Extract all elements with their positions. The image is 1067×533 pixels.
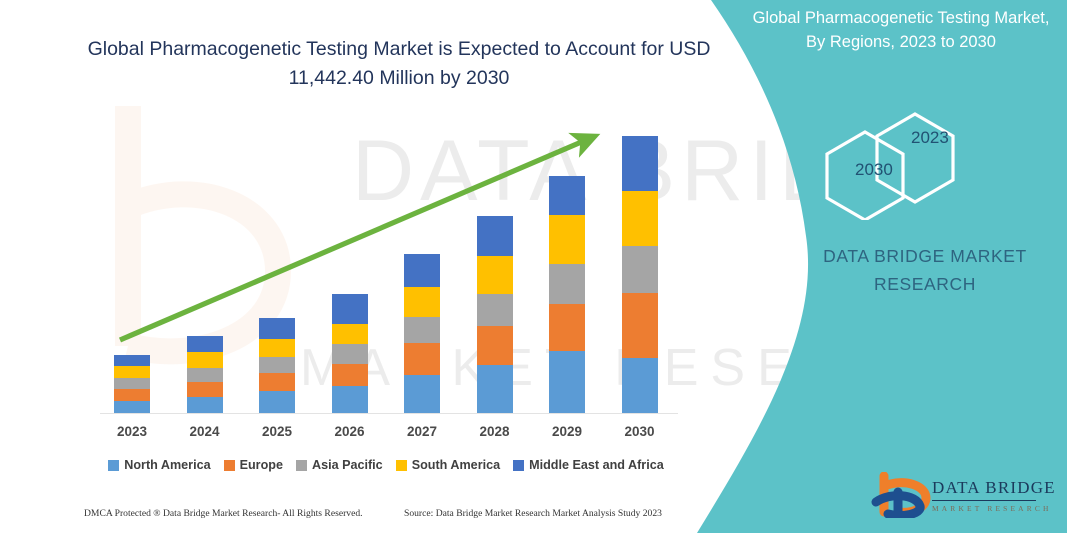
chart-x-axis-labels: 20232024202520262027202820292030 (100, 424, 680, 442)
footer: DMCA Protected ® Data Bridge Market Rese… (84, 508, 694, 524)
x-axis-label-2028: 2028 (465, 424, 525, 439)
x-axis-label-2023: 2023 (102, 424, 162, 439)
panel-title: Global Pharmacogenetic Testing Market, B… (748, 6, 1054, 54)
x-axis-label-2024: 2024 (175, 424, 235, 439)
logo-tagline: MARKET RESEARCH (932, 504, 1056, 513)
legend-item[interactable]: North America (108, 458, 210, 472)
legend-label: North America (124, 458, 210, 472)
legend-label: Asia Pacific (312, 458, 383, 472)
hexagon-pair (820, 110, 1010, 220)
legend-item[interactable]: Asia Pacific (296, 458, 383, 472)
footer-copyright: DMCA Protected ® Data Bridge Market Rese… (84, 508, 363, 519)
x-axis-label-2026: 2026 (320, 424, 380, 439)
x-axis-label-2029: 2029 (537, 424, 597, 439)
footer-source: Source: Data Bridge Market Research Mark… (404, 508, 662, 519)
legend-swatch-icon (224, 460, 235, 471)
legend-swatch-icon (396, 460, 407, 471)
infographic-canvas: DATA BRIDGE MARKET RESEARCH Global Pharm… (0, 0, 1067, 533)
logo-text: DATA BRIDGE MARKET RESEARCH (932, 478, 1056, 513)
legend-item[interactable]: Europe (224, 458, 283, 472)
logo-name: DATA BRIDGE (932, 478, 1056, 498)
panel-brand-line-2: RESEARCH (790, 270, 1060, 298)
hexagon-label-2023: 2023 (911, 128, 949, 148)
hexagon-label-2030: 2030 (855, 160, 893, 180)
x-axis-label-2027: 2027 (392, 424, 452, 439)
legend-swatch-icon (296, 460, 307, 471)
legend-swatch-icon (108, 460, 119, 471)
panel-brand-line-1: DATA BRIDGE MARKET (790, 242, 1060, 270)
x-axis-label-2025: 2025 (247, 424, 307, 439)
page-title: Global Pharmacogenetic Testing Market is… (84, 35, 714, 93)
growth-arrow-icon (100, 120, 680, 420)
x-axis-label-2030: 2030 (610, 424, 670, 439)
legend-label: Middle East and Africa (529, 458, 664, 472)
logo-divider (932, 500, 1036, 501)
chart-legend: North AmericaEuropeAsia PacificSouth Ame… (96, 455, 676, 475)
legend-swatch-icon (513, 460, 524, 471)
legend-label: Europe (240, 458, 283, 472)
legend-label: South America (412, 458, 500, 472)
legend-item[interactable]: Middle East and Africa (513, 458, 664, 472)
panel-brand: DATA BRIDGE MARKET RESEARCH (790, 242, 1060, 298)
legend-item[interactable]: South America (396, 458, 500, 472)
